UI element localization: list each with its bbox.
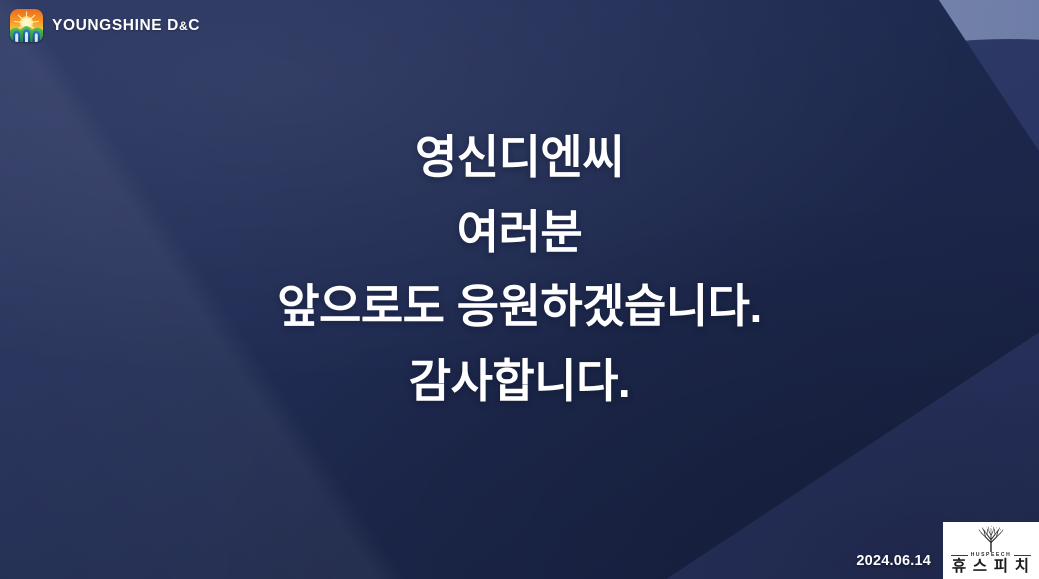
message-line-2: 여러분 xyxy=(24,195,1015,270)
brand-name-main: YOUNGSHINE xyxy=(52,17,162,34)
message-line-3: 앞으로도 응원하겠습니다. xyxy=(24,269,1015,344)
presentation-date: 2024.06.14 xyxy=(856,553,943,579)
brand-lockup: YOUNGSHINE D&C xyxy=(10,9,200,42)
brand-name: YOUNGSHINE D&C xyxy=(52,17,200,35)
youngshine-sunrise-logo-icon xyxy=(10,9,43,42)
wordmark-rule-left xyxy=(951,555,968,556)
brand-suffix-d: D xyxy=(167,17,179,34)
wordmark-rule-right xyxy=(1014,555,1031,556)
presentation-slide: YOUNGSHINE D&C 영신디엔씨 여러분 앞으로도 응원하겠습니다. 감… xyxy=(0,0,1039,579)
bare-tree-icon xyxy=(970,525,1012,552)
brand-suffix-ampersand: & xyxy=(179,19,188,33)
slide-footer: 2024.06.14 xyxy=(856,522,1039,579)
message-line-1: 영신디엔씨 xyxy=(24,120,1015,195)
closing-message: 영신디엔씨 여러분 앞으로도 응원하겠습니다. 감사합니다. xyxy=(0,120,1039,418)
huspeech-logo: HUSPEECH 휴 스 피 치 xyxy=(943,522,1039,579)
brand-suffix-c: C xyxy=(188,17,200,34)
message-line-4: 감사합니다. xyxy=(24,344,1015,419)
huspeech-korean-text: 휴 스 피 치 xyxy=(952,558,1030,575)
